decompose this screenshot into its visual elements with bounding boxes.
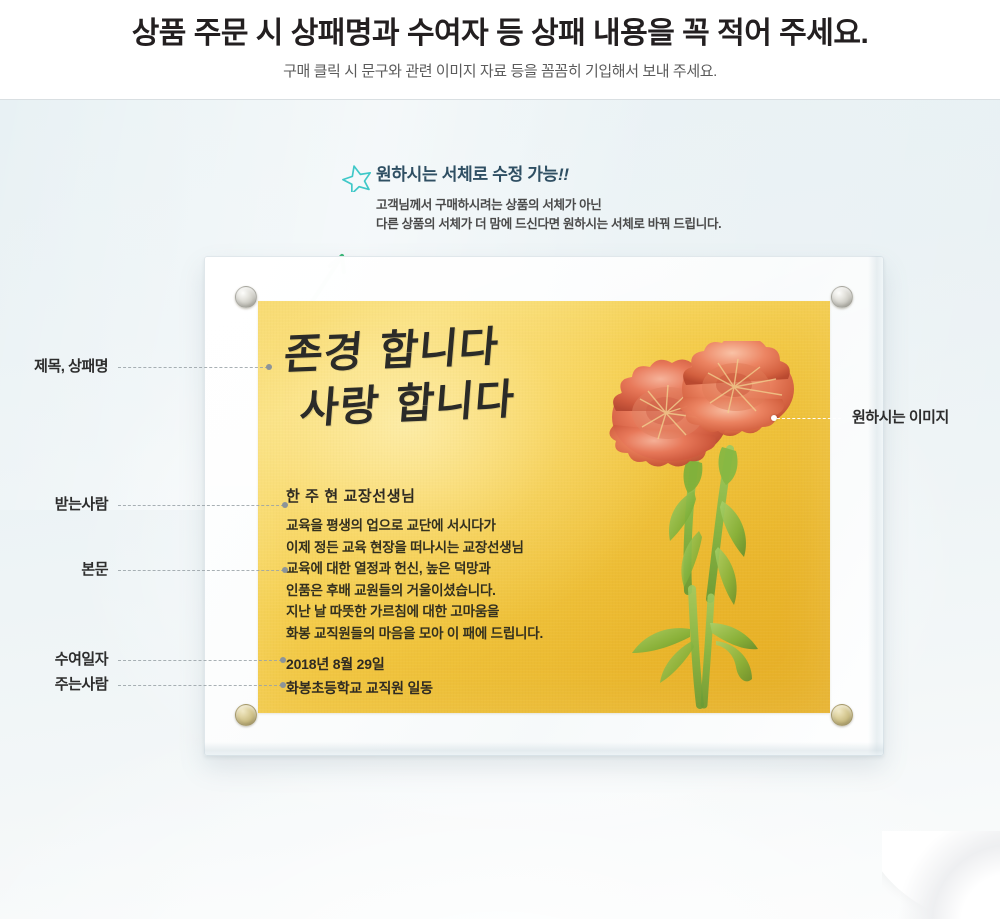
annotation-recipient-label: 받는사람 (0, 495, 108, 515)
certificate-body-line-2: 이제 정든 교육 현장을 떠나시는 교장선생님 (286, 537, 616, 559)
certificate-body: 교육을 평생의 업으로 교단에 서시다가 이제 정든 교육 현장을 떠나시는 교… (286, 515, 616, 644)
certificate-title: 존경 합니다 사랑 합니다 (284, 329, 614, 435)
callout-description: 고객님께서 구매하시려는 상품의 서체가 아닌 다른 상품의 서체가 더 맘에 … (340, 196, 760, 234)
annotation-body-leader-dot (282, 567, 288, 573)
certificate-body-line-5: 지난 날 따뜻한 가르침에 대한 고마움을 (286, 601, 616, 623)
certificate-body-line-3: 교육에 대한 열정과 헌신, 높은 덕망과 (286, 558, 616, 580)
certificate-body-line-1: 교육을 평생의 업으로 교단에 서시다가 (286, 515, 616, 537)
annotation-title-leader-dot (266, 364, 272, 370)
carnation-bloom-left (609, 359, 728, 466)
callout-title: 원하시는 서체로 수정 가능!! (376, 162, 760, 188)
callout-heading-row: 원하시는 서체로 수정 가능!! (340, 162, 760, 192)
page-title: 상품 주문 시 상패명과 수여자 등 상패 내용을 꼭 적어 주세요. (0, 12, 1000, 56)
page-header: 상품 주문 시 상패명과 수여자 등 상패 내용을 꼭 적어 주세요. 구매 클… (0, 0, 1000, 100)
page-subtitle: 구매 클릭 시 문구와 관련 이미지 자료 등을 꼼꼼히 기입해서 보내 주세요… (0, 60, 1000, 84)
screw-bottom-left (235, 704, 257, 726)
certificate-panel: 존경 합니다 사랑 합니다 한 주 현 교장선생님 교육을 평생의 업으로 교단… (258, 301, 830, 713)
callout-title-exclaim: !! (558, 165, 569, 184)
annotation-giver-leader-dot (280, 682, 286, 688)
annotation-date-leader-dot (280, 657, 286, 663)
annotation-recipient-leader-dot (282, 502, 288, 508)
star-icon (342, 162, 372, 192)
annotation-date-label: 수여일자 (0, 650, 108, 670)
screw-top-left (235, 286, 257, 308)
page-curl-effect (882, 831, 1000, 919)
annotation-giver-leader (118, 685, 282, 686)
acrylic-plaque: 존경 합니다 사랑 합니다 한 주 현 교장선생님 교육을 평생의 업으로 교단… (204, 256, 884, 756)
plaque-bottom-edge (204, 742, 884, 756)
screw-top-right (831, 286, 853, 308)
callout-line-1: 고객님께서 구매하시려는 상품의 서체가 아닌 (376, 196, 760, 215)
certificate-body-line-6: 화봉 교직원들의 마음을 모아 이 패에 드립니다. (286, 623, 616, 645)
annotation-image-leader (777, 418, 841, 419)
carnation-bloom-right (679, 341, 794, 436)
certificate-giver: 화봉초등학교 교직원 일동 (286, 678, 433, 698)
annotation-image-label: 원하시는 이미지 (852, 408, 1000, 428)
certificate-recipient: 한 주 현 교장선생님 (286, 485, 416, 506)
annotation-title-label: 제목, 상패명 (0, 357, 108, 377)
certificate-title-line-2: 사랑 합니다 (298, 369, 617, 435)
screw-bottom-right (831, 704, 853, 726)
page-curl-edge (882, 831, 1000, 919)
callout-line-2: 다른 상품의 서체가 더 맘에 드신다면 원하시는 서체로 바꿔 드립니다. (376, 215, 760, 234)
plaque-right-edge (868, 256, 884, 756)
certificate-body-line-4: 인품은 후배 교원들의 거울이셨습니다. (286, 580, 616, 602)
page-root: 상품 주문 시 상패명과 수여자 등 상패 내용을 꼭 적어 주세요. 구매 클… (0, 0, 1000, 919)
certificate-date: 2018년 8월 29일 (286, 654, 385, 674)
product-stage: 원하시는 서체로 수정 가능!! 고객님께서 구매하시려는 상품의 서체가 아닌… (0, 100, 1000, 919)
callout-title-text: 원하시는 서체로 수정 가능 (376, 165, 558, 184)
annotation-body-leader (118, 570, 284, 571)
annotation-recipient-leader (118, 505, 284, 506)
annotation-giver-label: 주는사람 (0, 675, 108, 695)
annotation-title-leader (118, 367, 268, 368)
annotation-date-leader (118, 660, 282, 661)
annotation-body-label: 본문 (0, 560, 108, 580)
page-curl-fill (882, 831, 1000, 919)
font-customization-callout: 원하시는 서체로 수정 가능!! 고객님께서 구매하시려는 상품의 서체가 아닌… (340, 162, 760, 234)
